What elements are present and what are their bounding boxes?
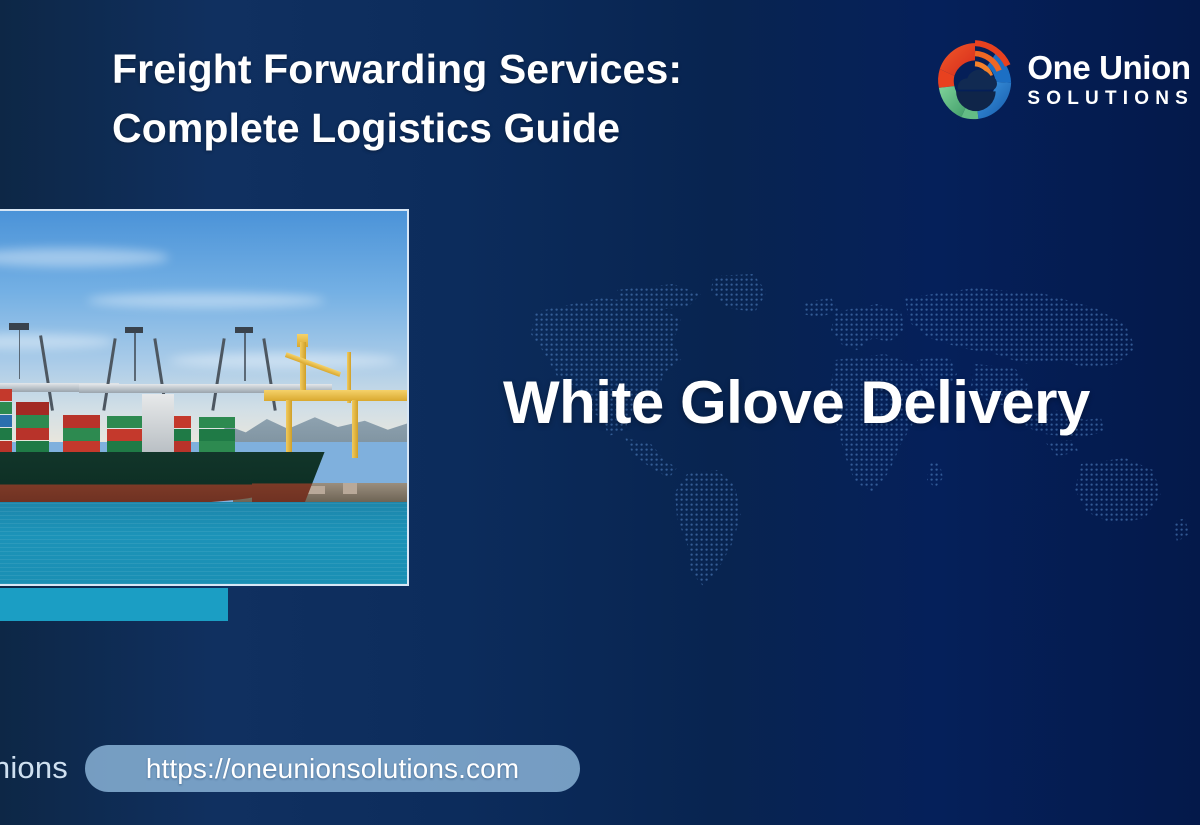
url-pill[interactable]: https://oneunionsolutions.com: [85, 745, 580, 792]
photo-water: [0, 502, 407, 584]
background-watermark-text: eunions: [0, 750, 68, 786]
page-title-line-1: Freight Forwarding Services:: [112, 46, 682, 92]
ship-superstructure: [142, 394, 174, 454]
main-heading: White Glove Delivery: [503, 368, 1090, 437]
page-title: Freight Forwarding Services: Complete Lo…: [112, 40, 872, 159]
container-ship-photo: [0, 209, 409, 586]
website-url: https://oneunionsolutions.com: [146, 753, 519, 785]
accent-bar: [0, 588, 228, 621]
ship-hull: [0, 452, 288, 504]
one-union-emblem-icon: [932, 38, 1018, 124]
logo-brand-name: One Union: [1027, 51, 1194, 84]
slide-canvas: Freight Forwarding Services: Complete Lo…: [0, 0, 1200, 825]
brand-logo: One Union SOLUTIONS: [932, 38, 1194, 124]
page-title-line-2: Complete Logistics Guide: [112, 99, 872, 158]
logo-brand-subtitle: SOLUTIONS: [1027, 89, 1194, 108]
